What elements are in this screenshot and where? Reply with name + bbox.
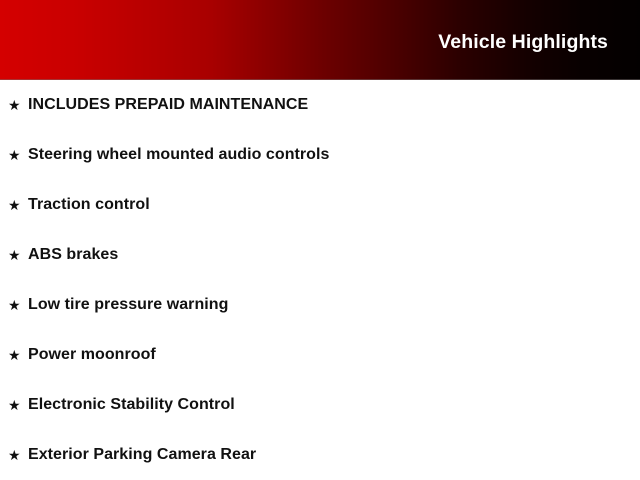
list-item: ★INCLUDES PREPAID MAINTENANCE [0,80,640,130]
star-icon: ★ [8,80,28,130]
highlight-label: Steering wheel mounted audio controls [28,130,329,180]
star-icon: ★ [8,330,28,380]
header-banner: Vehicle Highlights [0,0,640,80]
star-icon: ★ [8,430,28,480]
highlight-label: ABS brakes [28,230,118,280]
list-item: ★Steering wheel mounted audio controls [0,130,640,180]
list-item: ★ABS brakes [0,230,640,280]
highlight-label: INCLUDES PREPAID MAINTENANCE [28,80,308,130]
vehicle-highlights-page: Vehicle Highlights ★INCLUDES PREPAID MAI… [0,0,640,480]
star-icon: ★ [8,280,28,330]
list-item: ★Electronic Stability Control [0,380,640,430]
highlight-label: Exterior Parking Camera Rear [28,430,256,480]
list-item: ★Traction control [0,180,640,230]
highlight-label: Traction control [28,180,150,230]
star-icon: ★ [8,230,28,280]
list-item: ★Low tire pressure warning [0,280,640,330]
vehicle-highlights-list: ★INCLUDES PREPAID MAINTENANCE ★Steering … [0,80,640,480]
highlight-label: Power moonroof [28,330,156,380]
star-icon: ★ [8,380,28,430]
list-item: ★Power moonroof [0,330,640,380]
star-icon: ★ [8,130,28,180]
list-item: ★Exterior Parking Camera Rear [0,430,640,480]
page-title: Vehicle Highlights [438,30,608,54]
highlight-label: Low tire pressure warning [28,280,228,330]
highlight-label: Electronic Stability Control [28,380,235,430]
star-icon: ★ [8,180,28,230]
